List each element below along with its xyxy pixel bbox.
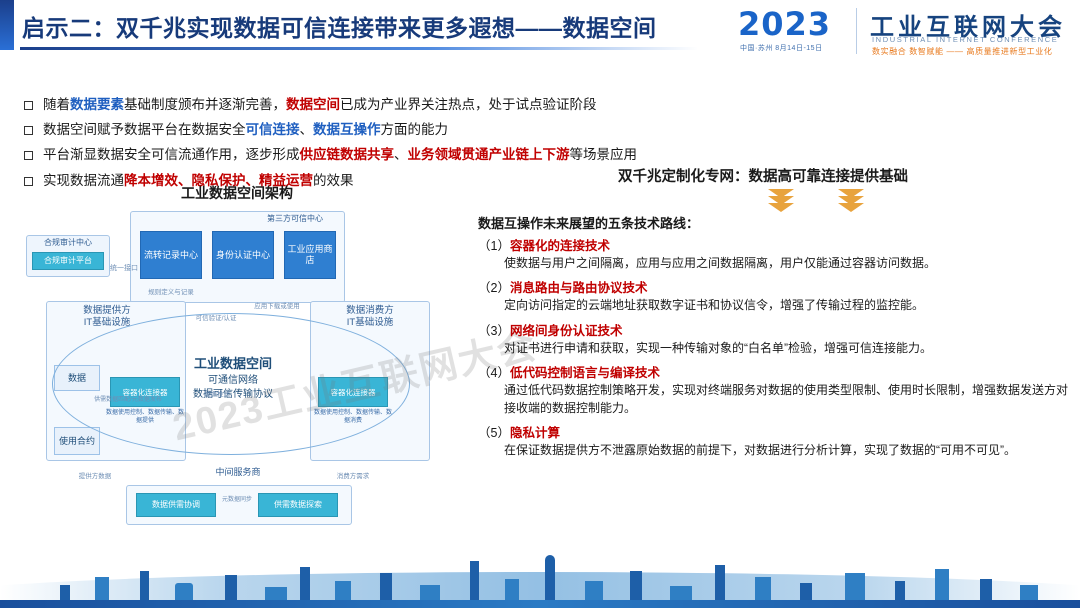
tech-route-title-5: 隐私计算 (510, 426, 560, 440)
tech-route-num-1: （1） (478, 239, 510, 253)
header-accent-bar (0, 0, 14, 50)
diagram-canvas: 第三方可信中心 流转记录中心 身份认证中心 工业应用商店 合规审计中心 合规审计… (18, 205, 468, 543)
chevron-decoration-row (478, 187, 1070, 213)
skyline-building (670, 586, 692, 601)
tech-route-num-2: （2） (478, 281, 510, 295)
skyline-building (140, 571, 149, 601)
logo-english-title: INDUSTRIAL INTERNET CONFERENCE (872, 35, 1058, 44)
tech-route-num-3: （3） (478, 324, 510, 338)
bullet-text-1: 随着数据要素基础制度颁布并逐渐完善，数据空间已成为产业界关注热点，处于试点验证阶… (43, 96, 597, 114)
skyline-building (380, 573, 392, 601)
skyline-building (265, 587, 287, 601)
seg-red: 数据空间 (286, 97, 340, 112)
data-consumer-text: 数据消费方 IT基础设施 (346, 305, 394, 328)
third-party-trust-label: 第三方可信中心 (250, 214, 340, 224)
trust-verify-label: 可信验证/认证 (186, 315, 246, 323)
tech-route-item-2: （2）消息路由与路由协议技术 定向访问指定的云端地址获取数字证书和协议信令，增强… (478, 277, 1070, 314)
tech-route-head-3: （3）网络间身份认证技术 (478, 320, 1070, 339)
skyline-building (545, 555, 555, 601)
usage-contract-box: 使用合约 (54, 427, 100, 455)
seg: 、 (300, 122, 314, 137)
seg: 基础制度颁布并逐渐完善， (124, 97, 286, 112)
tech-route-head-4: （4）低代码控制语言与编译技术 (478, 362, 1070, 381)
identity-auth-center-box: 身份认证中心 (212, 231, 274, 279)
bullet-square-icon (24, 151, 33, 160)
flow-record-center-box: 流转记录中心 (140, 231, 202, 279)
rule-record-label: 规则定义与记录 (136, 289, 206, 297)
skyline-building (60, 585, 70, 601)
provider-side-label: 提供方数据 (60, 473, 130, 481)
skyline-base-bar (0, 600, 1080, 608)
skyline-building (845, 573, 865, 601)
tech-route-body-2: 定向访问指定的云端地址获取数字证书和协议信令，增强了传输过程的监控能。 (504, 297, 1070, 314)
tech-route-item-3: （3）网络间身份认证技术 对证书进行申请和获取，实现一种传输对象的“白名单”检验… (478, 320, 1070, 357)
tech-route-head-5: （5）隐私计算 (478, 422, 1070, 441)
skyline-wave (0, 572, 1080, 602)
data-broker-box: 数据供需协调 (136, 493, 216, 517)
right-subtitle: 数据互操作未来展望的五条技术路线： (478, 213, 699, 232)
slide-header: 启示二：双千兆实现数据可信连接带来更多遐想——数据空间 2023 中国·苏州 8… (0, 0, 1080, 60)
skyline-building (630, 571, 642, 601)
seg: 随着 (43, 97, 70, 112)
seg: 数据空间赋予数据平台在数据安全 (43, 122, 246, 137)
tech-route-item-4: （4）低代码控制语言与编译技术 通过低代码数据控制策略开发，实现对终端服务对数据… (478, 362, 1070, 417)
bullet-item-2: 数据空间赋予数据平台在数据安全可信连接、数据互操作方面的能力 (24, 121, 644, 139)
chevron-down-icon (838, 203, 864, 212)
architecture-diagram: 工业数据空间架构 第三方可信中心 流转记录中心 身份认证中心 工业应用商店 合规… (18, 183, 468, 543)
logo-divider (856, 8, 857, 54)
footer-skyline-decoration (0, 536, 1080, 608)
audit-center-label: 合规审计中心 (30, 238, 106, 248)
data-push-label: 数据推送 (194, 391, 240, 399)
middle-service-label: 中间服务商 (178, 467, 298, 478)
app-download-label: 应用下载或使用 (244, 303, 310, 311)
tech-route-head-1: （1）容器化的连接技术 (478, 235, 1070, 254)
audit-platform-box: 合规审计平台 (32, 252, 104, 270)
chevron-down-icon (768, 203, 794, 212)
seg: 平台渐显数据安全可信流通作用，逐步形成 (43, 147, 300, 162)
center-line-2: 可通信网络 (158, 374, 308, 389)
skyline-building (95, 577, 109, 601)
industrial-app-store-label: 工业应用商店 (285, 244, 335, 266)
skyline-building (335, 581, 351, 601)
seg-red: 供应链数据共享 (300, 147, 395, 162)
meta-sync-label: 元数据同步 (214, 497, 260, 505)
right-column: 双千兆定制化专网：数据高可靠连接提供基础 数据互操作未来展望的五条技术路线： （… (478, 165, 1070, 186)
industrial-app-store-box: 工业应用商店 (284, 231, 336, 279)
header-underline (20, 47, 698, 50)
tech-route-list: （1）容器化的连接技术 使数据与用户之间隔离，应用与应用之间数据隔离，用户仅能通… (478, 235, 1070, 464)
skyline-building (895, 581, 905, 601)
diagram-title: 工业数据空间架构 (181, 183, 293, 203)
tech-route-num-5: （5） (478, 426, 510, 440)
data-provider-text: 数据提供方 IT基础设施 (83, 305, 131, 328)
skyline-building (505, 579, 519, 601)
seg-blue: 数据互操作 (313, 122, 381, 137)
seg: 方面的能力 (381, 122, 449, 137)
skyline-building (470, 561, 479, 601)
skyline-building (935, 569, 949, 601)
seg-blue: 可信连接 (246, 122, 300, 137)
tech-route-item-1: （1）容器化的连接技术 使数据与用户之间隔离，应用与应用之间数据隔离，用户仅能通… (478, 235, 1070, 272)
identity-auth-center-label: 身份认证中心 (216, 250, 270, 261)
audit-platform-label: 合规审计平台 (44, 256, 92, 266)
tech-route-head-2: （2）消息路由与路由协议技术 (478, 277, 1070, 296)
skyline-building (420, 585, 440, 601)
demand-explore-label: 供需数据探索 (274, 500, 322, 510)
tech-route-body-4: 通过低代码数据控制策略开发，实现对终端服务对数据的使用类型限制、使用时长限制，增… (504, 382, 1070, 417)
meta-publish-label: 供需数据匹配/元数据发布 (78, 397, 178, 405)
seg: 等场景应用 (570, 147, 638, 162)
conference-logo: 2023 中国·苏州 8月14日-15日 工业互联网大会 INDUSTRIAL … (738, 5, 1068, 61)
seg: 、 (394, 147, 408, 162)
seg-red: 业务领域贯通产业链上下游 (408, 147, 570, 162)
tech-route-num-4: （4） (478, 366, 510, 380)
page-title: 启示二：双千兆实现数据可信连接带来更多遐想——数据空间 (22, 9, 657, 43)
right-title: 双千兆定制化专网：数据高可靠连接提供基础 (618, 165, 1070, 186)
tech-route-title-2: 消息路由与路由协议技术 (510, 281, 648, 295)
skyline-building (585, 581, 603, 601)
bullet-item-1: 随着数据要素基础制度颁布并逐渐完善，数据空间已成为产业界关注热点，处于试点验证阶… (24, 96, 644, 114)
logo-year: 2023 (738, 5, 831, 43)
bullet-item-3: 平台渐显数据安全可信流通作用，逐步形成供应链数据共享、业务领域贯通产业链上下游等… (24, 146, 644, 164)
skyline-building (800, 583, 812, 601)
unified-api-label: 统一接口 (102, 265, 146, 274)
bullet-square-icon (24, 101, 33, 110)
bullet-square-icon (24, 126, 33, 135)
skyline-building (715, 565, 725, 601)
tech-route-body-3: 对证书进行申请和获取，实现一种传输对象的“白名单”检验，增强可信连接能力。 (504, 340, 1070, 357)
skyline-building (300, 567, 310, 601)
data-broker-label: 数据供需协调 (152, 500, 200, 510)
skyline-building (980, 579, 992, 601)
skyline-building (225, 575, 237, 601)
skyline-building (755, 577, 771, 601)
usage-contract-label: 使用合约 (59, 436, 95, 447)
skyline-building (175, 583, 193, 601)
demand-explore-box: 供需数据探索 (258, 493, 338, 517)
seg: 已成为产业界关注热点，处于试点验证阶段 (340, 97, 597, 112)
consumer-side-label: 消费方需求 (318, 473, 388, 481)
bullet-text-2: 数据空间赋予数据平台在数据安全可信连接、数据互操作方面的能力 (43, 121, 448, 139)
tech-route-title-4: 低代码控制语言与编译技术 (510, 366, 660, 380)
tech-route-body-5: 在保证数据提供方不泄露原始数据的前提下，对数据进行分析计算，实现了数据的“可用不… (504, 442, 1070, 459)
center-line-1: 工业数据空间 (158, 355, 308, 374)
tech-route-title-3: 网络间身份认证技术 (510, 324, 623, 338)
logo-year-sub: 中国·苏州 8月14日-15日 (740, 43, 823, 53)
bullet-text-3: 平台渐显数据安全可信流通作用，逐步形成供应链数据共享、业务领域贯通产业链上下游等… (43, 146, 637, 164)
tech-route-item-5: （5）隐私计算 在保证数据提供方不泄露原始数据的前提下，对数据进行分析计算，实现… (478, 422, 1070, 459)
flow-record-center-label: 流转记录中心 (144, 250, 198, 261)
skyline-building (1020, 585, 1038, 601)
logo-slogan: 数实融合 数智赋能 —— 高质量推进新型工业化 (872, 46, 1052, 57)
tech-route-body-1: 使数据与用户之间隔离，应用与应用之间数据隔离，用户仅能通过容器访问数据。 (504, 255, 1070, 272)
seg-blue: 数据要素 (70, 97, 124, 112)
tech-route-title-1: 容器化的连接技术 (510, 239, 610, 253)
